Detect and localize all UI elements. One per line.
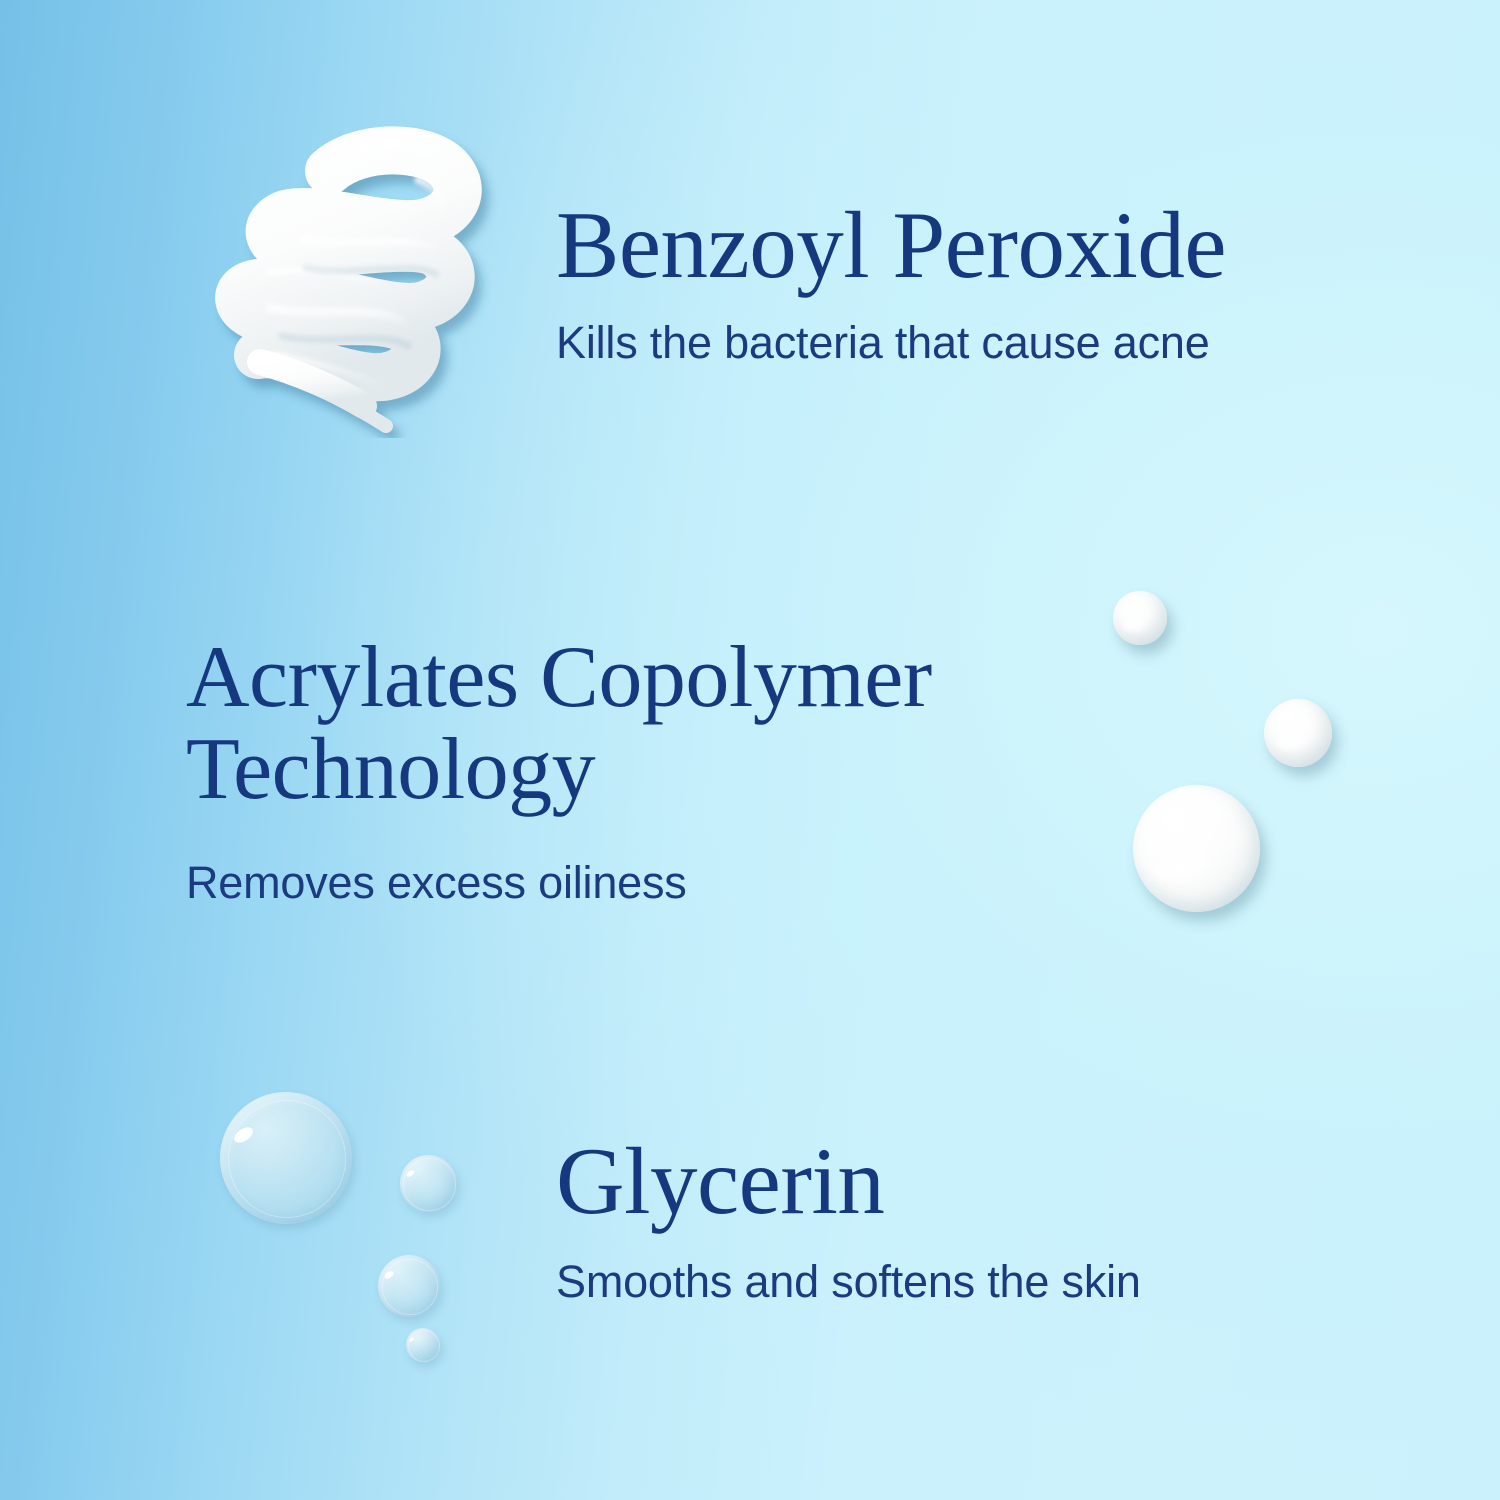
- clear-gel-droplet-tiny: [406, 1328, 440, 1362]
- ingredient-block-acrylates-copolymer: Acrylates Copolymer Technology Removes e…: [186, 632, 932, 909]
- ingredient-name-benzoyl-peroxide: Benzoyl Peroxide: [556, 196, 1226, 295]
- ingredient-name-glycerin: Glycerin: [556, 1132, 1141, 1231]
- clear-gel-droplet-large: [220, 1092, 352, 1224]
- ingredient-benefit-acrylates-copolymer: Removes excess oiliness: [186, 857, 932, 909]
- ingredient-benefit-glycerin: Smooths and softens the skin: [556, 1256, 1141, 1308]
- ingredient-block-glycerin: Glycerin Smooths and softens the skin: [556, 1132, 1141, 1308]
- ingredient-benefits-panel: Benzoyl Peroxide Kills the bacteria that…: [0, 0, 1500, 1500]
- ingredient-name-acrylates-copolymer: Acrylates Copolymer Technology: [186, 632, 932, 815]
- clear-gel-droplet-medium: [400, 1155, 457, 1212]
- cream-swirl-icon: [186, 118, 506, 438]
- white-cream-droplet-small: [1113, 591, 1167, 645]
- clear-gel-droplet-small: [378, 1255, 440, 1317]
- white-cream-droplet-large: [1133, 785, 1260, 912]
- white-cream-droplet-medium: [1264, 699, 1332, 767]
- ingredient-benefit-benzoyl-peroxide: Kills the bacteria that cause acne: [556, 317, 1226, 369]
- ingredient-block-benzoyl-peroxide: Benzoyl Peroxide Kills the bacteria that…: [556, 196, 1226, 369]
